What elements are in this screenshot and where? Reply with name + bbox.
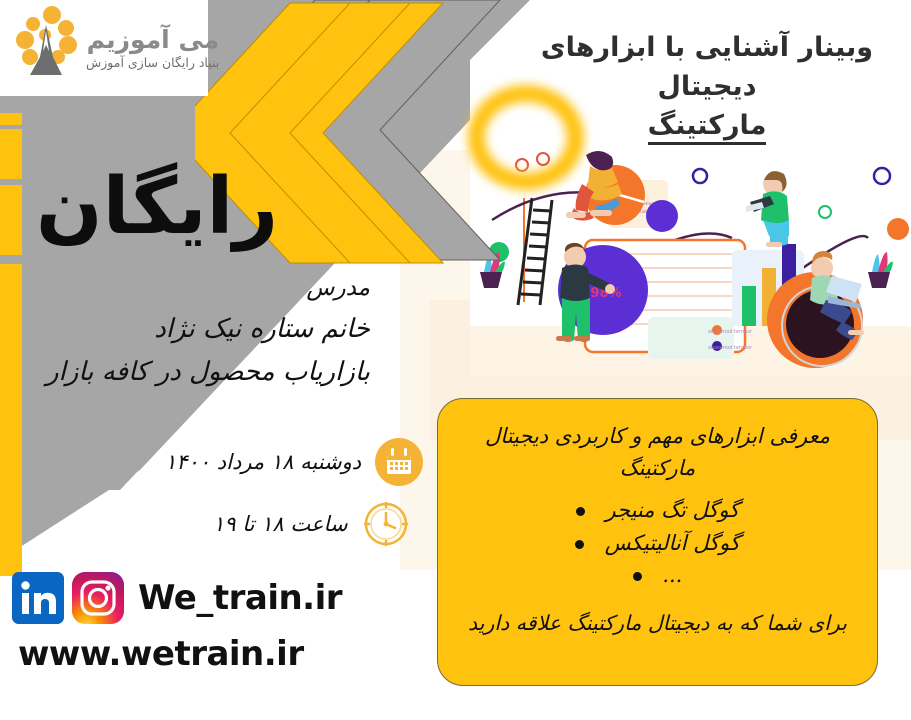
instructor-role-label: مدرس — [40, 270, 370, 308]
list-item: گوگل آنالیتیکس — [464, 527, 851, 560]
accent-bar-1 — [0, 113, 22, 125]
free-badge-text: رایگان — [36, 168, 278, 246]
agenda-box: معرفی ابزارهای مهم و کاربردی دیجیتال مار… — [437, 398, 878, 686]
schedule-time-text: ساعت ۱۸ تا ۱۹ — [213, 512, 348, 536]
headline-line-2-text: مارکتینگ — [648, 110, 767, 145]
small-red-ring-icon — [536, 152, 550, 166]
agenda-item-text: گوگل تگ منیجر — [605, 498, 739, 522]
instructor-name: خانم ستاره نیک نژاد — [40, 308, 370, 351]
brand-tagline: بنیاد رایگان سازی آموزش — [86, 56, 219, 69]
schedule-date-text: دوشنبه ۱۸ مرداد ۱۴۰۰ — [165, 450, 361, 474]
agenda-list: گوگل تگ منیجر گوگل آنالیتیکس ... — [464, 494, 851, 592]
instagram-icon[interactable] — [72, 572, 124, 624]
clock-icon — [362, 500, 410, 548]
tree-logo-icon — [0, 5, 86, 91]
list-item: گوگل تگ منیجر — [464, 494, 851, 527]
calendar-icon — [375, 438, 423, 486]
accent-bar-2 — [0, 129, 22, 179]
linkedin-icon[interactable] — [12, 572, 64, 624]
headline-line-1: وبینار آشنایی با ابزارهای دیجیتال — [497, 28, 911, 106]
list-item: ... — [464, 559, 851, 592]
schedule-date-row: دوشنبه ۱۸ مرداد ۱۴۰۰ — [165, 438, 423, 486]
poster-headline: وبینار آشنایی با ابزارهای دیجیتال مارکتی… — [497, 28, 911, 145]
bullet-icon — [575, 540, 584, 549]
accent-bar-4 — [0, 264, 22, 576]
agenda-heading: معرفی ابزارهای مهم و کاربردی دیجیتال مار… — [464, 421, 851, 484]
schedule-time-row: ساعت ۱۸ تا ۱۹ — [213, 500, 410, 548]
svg-text:elusomod tempor: elusomod tempor — [708, 329, 753, 335]
brand-logo-card: می آموزیم بنیاد رایگان سازی آموزش — [0, 0, 208, 96]
accent-bar-3 — [0, 185, 22, 255]
brand-name: می آموزیم — [86, 27, 219, 53]
poster-canvas: stik marketing little side — [0, 0, 911, 720]
website-url[interactable]: www.wetrain.ir — [18, 634, 304, 674]
instructor-block: مدرس خانم ستاره نیک نژاد بازاریاب محصول … — [40, 270, 370, 394]
social-handle[interactable]: We_train.ir — [138, 578, 342, 618]
svg-text:elusomod tempor: elusomod tempor — [708, 345, 753, 351]
headline-line-2: مارکتینگ — [497, 106, 911, 145]
social-links-row: We_train.ir — [12, 572, 342, 624]
agenda-item-text: گوگل آنالیتیکس — [605, 531, 740, 555]
brand-logo-text: می آموزیم بنیاد رایگان سازی آموزش — [86, 27, 225, 68]
instructor-title: بازاریاب محصول در کافه بازار — [40, 351, 370, 394]
bullet-icon — [633, 572, 642, 581]
bullet-icon — [576, 507, 585, 516]
agenda-item-text: ... — [662, 563, 682, 587]
agenda-footer: برای شما که به دیجیتال مارکتینگ علاقه دا… — [464, 608, 851, 639]
